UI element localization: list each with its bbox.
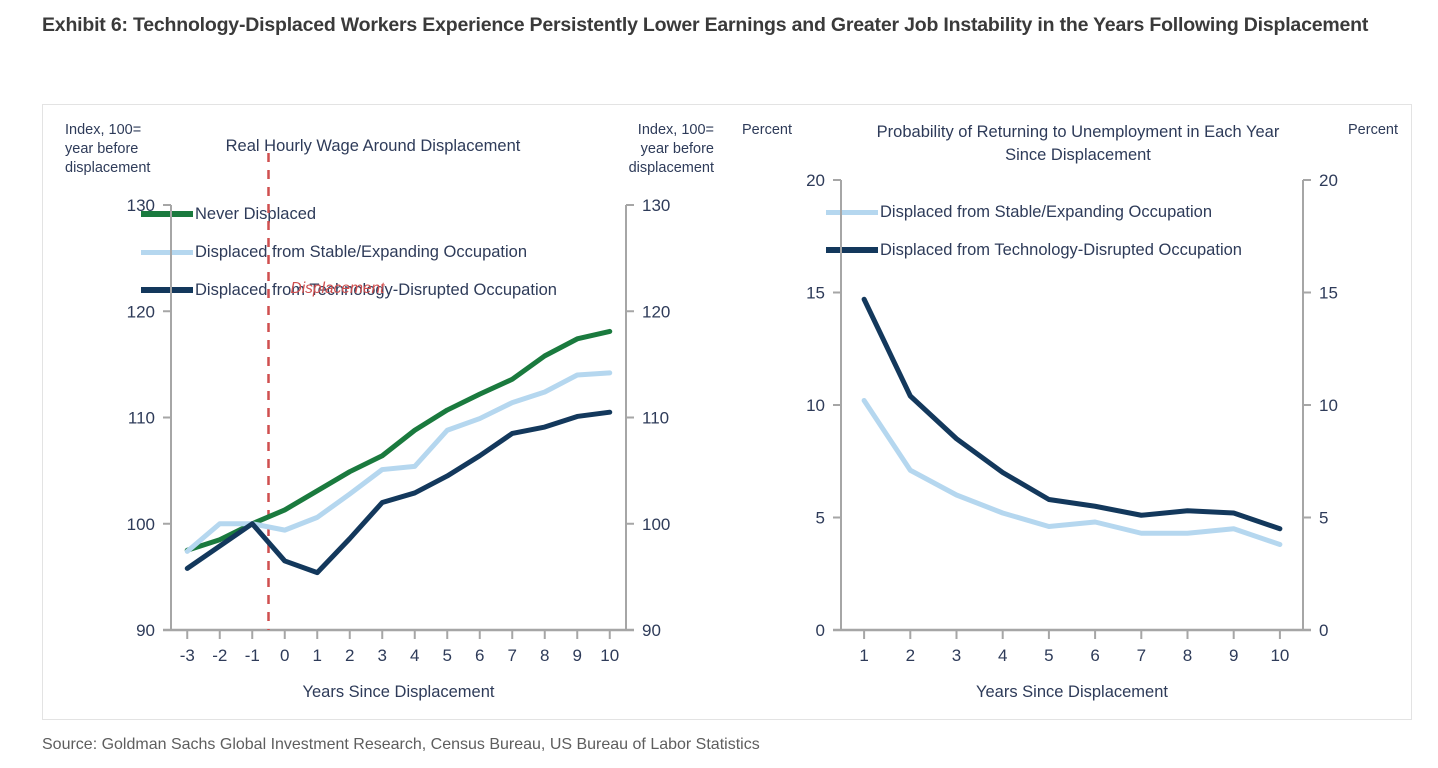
y-tick-label-left: 90 <box>136 621 155 640</box>
series-line <box>864 401 1280 545</box>
y-tick-label-left: 120 <box>127 302 155 321</box>
y-tick-label-right: 90 <box>642 621 661 640</box>
y-tick-label-right: 20 <box>1319 171 1338 190</box>
y-tick-label-right: 100 <box>642 515 670 534</box>
x-tick-label: 2 <box>345 646 354 665</box>
displacement-marker-label: Displacement <box>291 280 386 297</box>
y-tick-label-left: 100 <box>127 515 155 534</box>
x-tick-label: 4 <box>410 646 419 665</box>
chart-left-wage: Index, 100= year before displacement Ind… <box>43 105 728 721</box>
x-tick-label: 1 <box>859 646 868 665</box>
y-tick-label-left: 20 <box>806 171 825 190</box>
x-tick-label: 6 <box>1090 646 1099 665</box>
x-tick-label: -3 <box>180 646 195 665</box>
series-line <box>864 299 1280 529</box>
y-tick-label-right: 0 <box>1319 621 1328 640</box>
y-tick-label-right: 130 <box>642 196 670 215</box>
x-tick-label: -1 <box>245 646 260 665</box>
x-axis-title: Years Since Displacement <box>976 683 1168 701</box>
exhibit-page: Exhibit 6: Technology-Displaced Workers … <box>0 0 1438 768</box>
y-tick-label-right: 110 <box>642 409 669 428</box>
y-tick-label-left: 15 <box>806 284 825 303</box>
x-tick-label: 8 <box>540 646 549 665</box>
y-tick-label-right: 120 <box>642 302 670 321</box>
y-tick-label-left: 110 <box>128 409 155 428</box>
series-line <box>187 412 610 572</box>
x-tick-label: 10 <box>600 646 619 665</box>
x-tick-label: 8 <box>1183 646 1192 665</box>
y-tick-label-left: 5 <box>816 509 825 528</box>
x-tick-label: 10 <box>1270 646 1289 665</box>
y-tick-label-right: 5 <box>1319 509 1328 528</box>
x-tick-label: 5 <box>1044 646 1053 665</box>
x-tick-label: 7 <box>1137 646 1146 665</box>
left-chart-plot: 9090100100110110120120130130-3-2-1012345… <box>43 105 728 721</box>
y-tick-label-left: 130 <box>127 196 155 215</box>
x-tick-label: 1 <box>313 646 322 665</box>
page-title: Exhibit 6: Technology-Displaced Workers … <box>42 8 1412 42</box>
x-tick-label: 0 <box>280 646 289 665</box>
x-axis-title: Years Since Displacement <box>303 683 495 701</box>
x-tick-label: 9 <box>1229 646 1238 665</box>
x-tick-label: 3 <box>952 646 961 665</box>
y-tick-label-left: 10 <box>806 396 825 415</box>
x-tick-label: 9 <box>573 646 582 665</box>
x-tick-label: 5 <box>443 646 452 665</box>
y-tick-label-left: 0 <box>816 621 825 640</box>
chart-right-unemployment: Percent Percent Probability of Returning… <box>728 105 1413 721</box>
x-tick-label: 4 <box>998 646 1007 665</box>
x-tick-label: 3 <box>378 646 387 665</box>
y-tick-label-right: 15 <box>1319 284 1338 303</box>
chart-panel: Index, 100= year before displacement Ind… <box>42 104 1412 720</box>
source-note: Source: Goldman Sachs Global Investment … <box>42 736 760 754</box>
series-line <box>187 331 610 550</box>
x-tick-label: 7 <box>508 646 517 665</box>
x-tick-label: -2 <box>212 646 227 665</box>
x-tick-label: 6 <box>475 646 484 665</box>
y-tick-label-right: 10 <box>1319 396 1338 415</box>
x-tick-label: 2 <box>906 646 915 665</box>
right-chart-plot: 005510101515202012345678910Years Since D… <box>728 105 1413 721</box>
